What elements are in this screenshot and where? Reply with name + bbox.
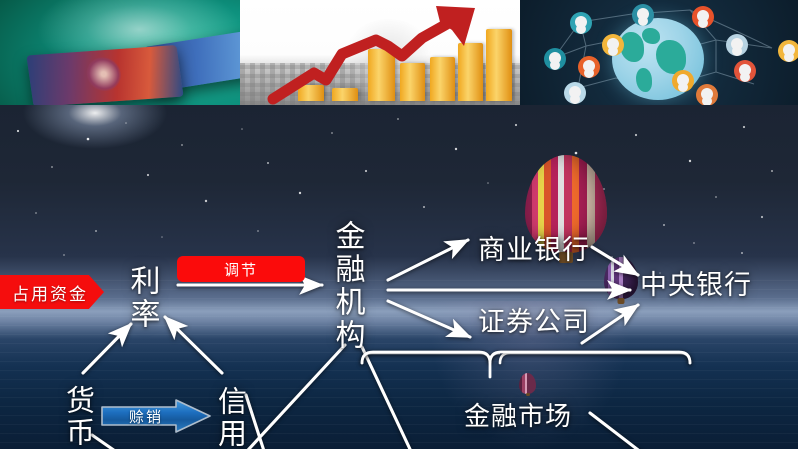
avatar — [696, 84, 718, 105]
dollar-bill-front — [26, 45, 183, 105]
blue-arrow-label: 赊销 — [108, 406, 184, 427]
node-securities-company: 证券公司 — [478, 309, 590, 337]
banner-occupied-funds: 占用资金 — [0, 275, 104, 309]
label-box-adjust: 调节 — [177, 256, 305, 282]
slide-canvas: 利率 金融机构 货币 信用 商业银行 证券公司 中央银行 金融市场 货币供求 货… — [0, 0, 798, 449]
avatar — [578, 56, 600, 78]
money-photo — [0, 0, 240, 105]
avatar — [544, 48, 566, 70]
node-credit: 信用 — [215, 386, 245, 449]
avatar — [632, 4, 654, 26]
photo-strip — [0, 0, 798, 105]
node-commercial-bank: 商业银行 — [478, 237, 590, 265]
network-photo — [520, 0, 798, 105]
avatar — [602, 34, 624, 56]
node-currency: 货币 — [63, 385, 93, 449]
avatar — [570, 12, 592, 34]
avatar — [672, 70, 694, 92]
node-financial-institution: 金融机构 — [331, 220, 363, 352]
node-financial-market: 金融市场 — [464, 404, 572, 431]
avatar — [692, 6, 714, 28]
avatar — [564, 82, 586, 104]
diagram-scene: 利率 金融机构 货币 信用 商业银行 证券公司 中央银行 金融市场 货币供求 货… — [0, 105, 798, 449]
node-interest-rate: 利率 — [126, 265, 158, 331]
curly-brace — [362, 353, 690, 363]
blue-arrow-credit-sale: 赊销 — [100, 399, 212, 433]
node-central-bank: 中央银行 — [640, 272, 752, 300]
avatar — [778, 40, 798, 62]
growth-chart-photo — [240, 0, 520, 105]
red-trend-arrow-icon — [240, 0, 520, 105]
avatar — [734, 60, 756, 82]
portrait-oval — [84, 56, 123, 92]
avatar — [726, 34, 748, 56]
